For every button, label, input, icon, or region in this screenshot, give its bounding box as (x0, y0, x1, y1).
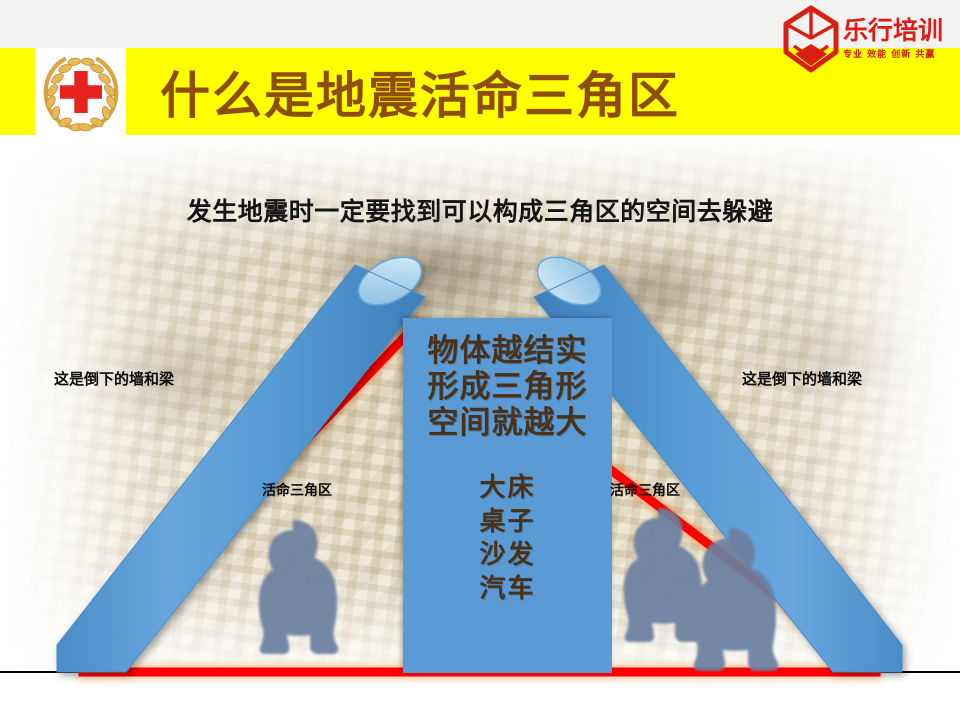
red-cross-emblem-box (35, 48, 126, 140)
annotation-wall-right: 这是倒下的墙和梁 (742, 368, 862, 389)
page-title: 什么是地震活命三角区 (160, 52, 780, 132)
subtitle: 发生地震时一定要找到可以构成三角区的空间去躲避 (0, 192, 960, 228)
annotation-zone-right: 活命三角区 (610, 480, 680, 500)
center-heading-line-3: 空间就越大 (403, 406, 612, 442)
center-info-panel: 物体越结实 形成三角形 空间就越大 大床 桌子 沙发 汽车 (403, 318, 612, 673)
annotation-wall-left: 这是倒下的墙和梁 (54, 368, 174, 389)
list-item: 汽车 (403, 573, 612, 607)
list-item: 沙发 (403, 539, 612, 573)
red-cross-laurel-emblem-icon (39, 50, 123, 139)
red-hexagon-cube-logo-icon (782, 4, 840, 74)
center-heading-line-1: 物体越结实 (403, 334, 612, 370)
brand-name: 乐行培训 (843, 18, 943, 44)
brand-logo: 乐行培训 专业 效能 创新 共赢 (782, 2, 960, 76)
brand-text: 乐行培训 专业 效能 创新 共赢 (840, 18, 943, 60)
center-panel-heading: 物体越结实 形成三角形 空间就越大 (403, 334, 612, 442)
center-heading-line-2: 形成三角形 (403, 370, 612, 406)
brand-tagline: 专业 效能 创新 共赢 (843, 47, 943, 60)
list-item: 大床 (403, 472, 612, 506)
slide: 什么是地震活命三角区 乐行培训 专业 效能 创新 共赢 (0, 0, 960, 720)
annotation-zone-left: 活命三角区 (262, 480, 332, 500)
list-item: 桌子 (403, 506, 612, 540)
center-panel-list: 大床 桌子 沙发 汽车 (403, 472, 612, 607)
